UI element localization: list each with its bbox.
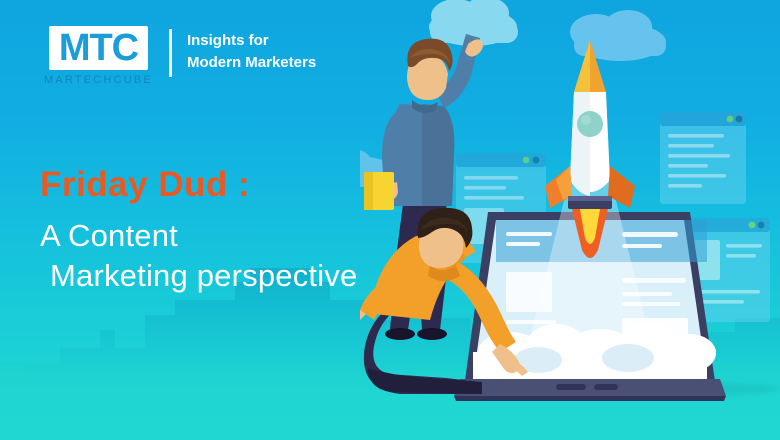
tagline-line-1: Insights for <box>187 30 316 52</box>
browser-card-mid-right <box>660 112 746 204</box>
logo-mark: MTC MARTECHCUBE <box>44 26 153 86</box>
logo-initials-box: MTC <box>49 26 148 70</box>
marketing-banner: MTC MARTECHCUBE Insights for Modern Mark… <box>0 0 780 440</box>
logo-initials: MTC <box>59 29 138 68</box>
headline-subtitle: A Content Marketing perspective <box>40 216 357 297</box>
headline-line-2: Marketing perspective <box>40 256 357 296</box>
brand-tagline: Insights for Modern Marketers <box>187 30 316 74</box>
cloud-top-right <box>570 10 666 61</box>
brand-logo[interactable]: MTC MARTECHCUBE Insights for Modern Mark… <box>44 26 316 86</box>
headline-accent: Friday Dud : <box>40 165 357 204</box>
logo-divider <box>169 29 172 77</box>
tagline-line-2: Modern Marketers <box>187 52 316 74</box>
headline-line-1: A Content <box>40 218 178 253</box>
logo-wordmark: MARTECHCUBE <box>44 74 153 86</box>
hero-illustration <box>360 0 780 440</box>
headline-block: Friday Dud : A Content Marketing perspec… <box>40 165 357 297</box>
